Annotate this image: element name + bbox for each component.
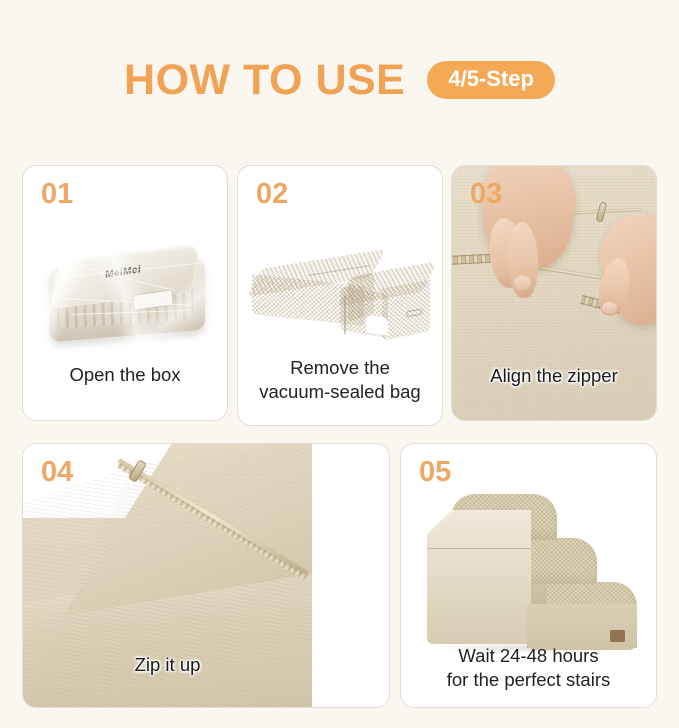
step-caption-02-line2: vacuum-sealed bag <box>238 380 442 404</box>
step-caption-02-line1: Remove the <box>238 356 442 380</box>
step-caption-04: Zip it up <box>23 653 312 677</box>
step-card-01[interactable]: 01 MeiMei Open the box <box>22 165 228 421</box>
step-card-03[interactable]: 03 Align the zipper <box>451 165 657 421</box>
step-caption-05: Wait 24-48 hours for the perfect stairs <box>401 644 656 693</box>
flat-packed-foam-image <box>248 246 438 354</box>
step-number-02: 02 <box>256 180 288 209</box>
step-caption-05-line2: for the perfect stairs <box>401 668 656 692</box>
steps-grid: 01 MeiMei Open the box 02 <box>0 0 679 728</box>
pet-stairs-image <box>427 492 637 652</box>
step-card-04[interactable]: 04 Zip it up <box>22 443 390 708</box>
step-number-05: 05 <box>419 458 451 487</box>
step-card-02[interactable]: 02 Remove the vacuum-sealed bag <box>237 165 443 426</box>
step-caption-03: Align the zipper <box>452 364 656 388</box>
step-number-03: 03 <box>470 180 502 209</box>
step-caption-05-line1: Wait 24-48 hours <box>401 644 656 668</box>
brand-tag-icon <box>610 630 625 642</box>
step-card-05[interactable]: 05 Wait 24-48 hours for the perfect stai… <box>400 443 657 708</box>
vacuum-sealed-package-image: MeiMei <box>41 244 213 356</box>
step-number-04: 04 <box>41 458 73 487</box>
step-caption-01: Open the box <box>23 363 227 387</box>
step-caption-02: Remove the vacuum-sealed bag <box>238 356 442 405</box>
step-number-01: 01 <box>41 180 73 209</box>
